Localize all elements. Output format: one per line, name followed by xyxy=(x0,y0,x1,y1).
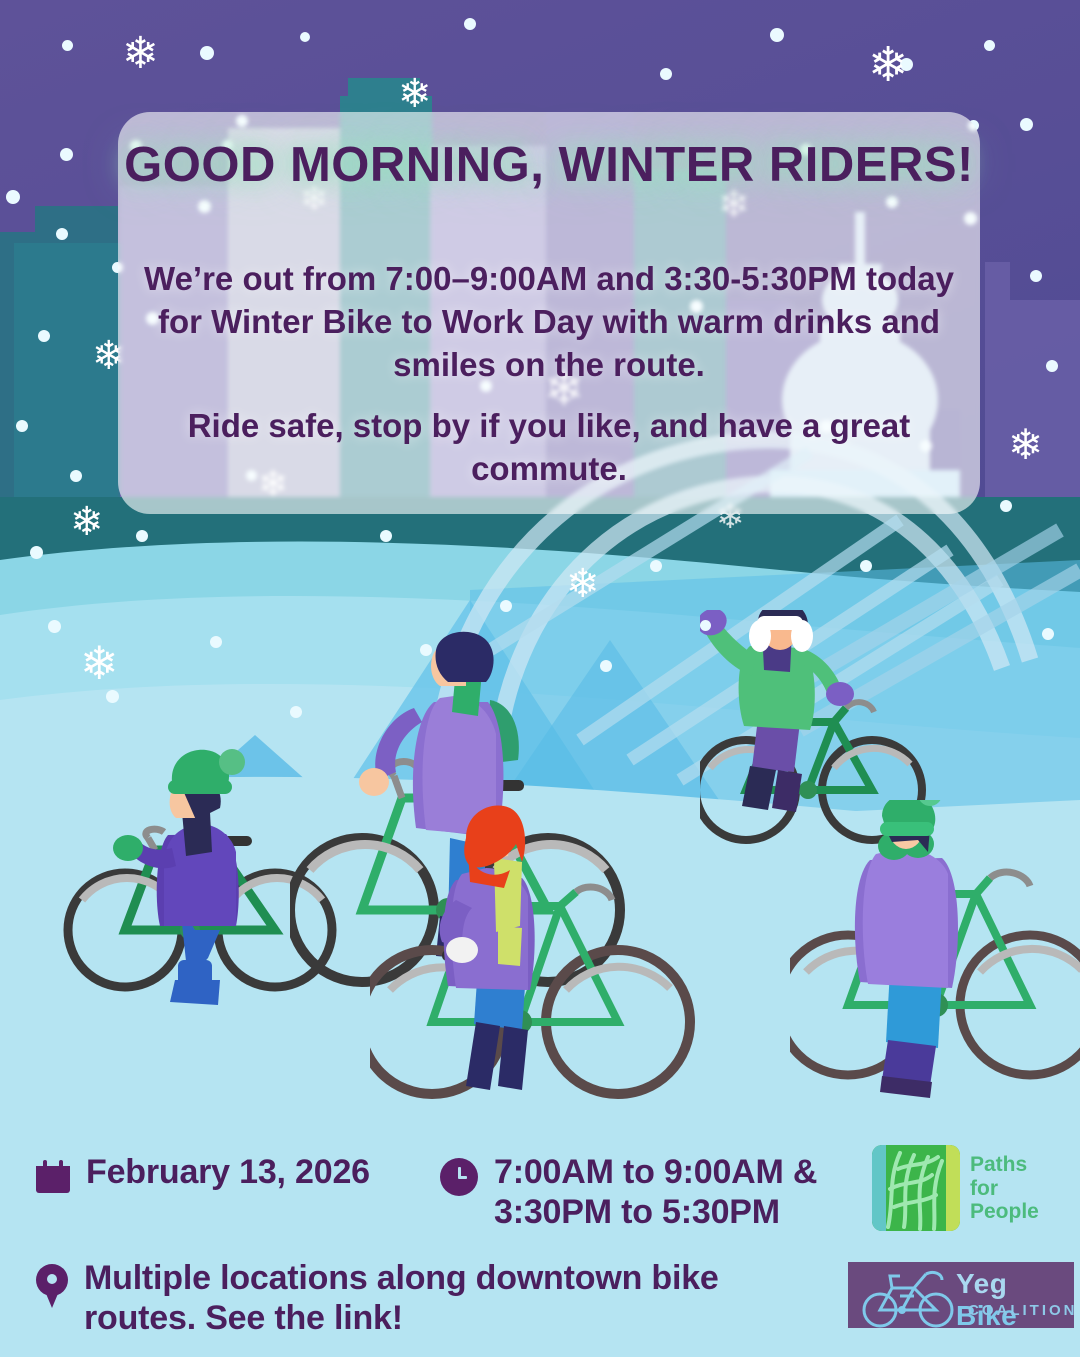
snowflake-icon: ❄ xyxy=(122,32,159,76)
paths-for-people-wordmark: Paths for People xyxy=(970,1153,1039,1224)
snow-dot xyxy=(30,546,43,559)
cyclist-green-hat-right xyxy=(790,800,1080,1120)
clock-icon xyxy=(440,1158,478,1196)
snow-dot xyxy=(210,636,222,648)
snow-dot xyxy=(16,420,28,432)
message-paragraph-1: We’re out from 7:00–9:00AM and 3:30-5:30… xyxy=(135,258,963,387)
snow-dot xyxy=(106,690,119,703)
poster-root: ❄ ❄ ❄ ❄ ❄ ❄ ❄ ❄ ❄ ❄ ❄ ❄ ❄ GOOD MORNING, … xyxy=(0,0,1080,1357)
snow-dot xyxy=(420,644,432,656)
snow-dot xyxy=(1030,270,1042,282)
message-paragraph-2: Ride safe, stop by if you like, and have… xyxy=(135,405,963,491)
cyclist-redhead-center xyxy=(370,800,710,1130)
snow-dot xyxy=(136,530,148,542)
bicycle-icon xyxy=(856,1266,960,1332)
snow-dot xyxy=(38,330,50,342)
snow-dot xyxy=(984,40,995,51)
detail-location: Multiple locations along downtown bike r… xyxy=(36,1258,719,1338)
snow-dot xyxy=(6,190,20,204)
pfp-line-1: Paths xyxy=(970,1153,1039,1177)
pfp-line-2: for xyxy=(970,1177,1039,1201)
snow-dot xyxy=(1020,118,1033,131)
snow-dot xyxy=(1046,360,1058,372)
pfp-line-3: People xyxy=(970,1200,1039,1224)
map-pin-icon xyxy=(36,1264,68,1308)
detail-time-line-1: 7:00AM to 9:00AM & xyxy=(494,1152,817,1192)
snow-dot xyxy=(62,40,73,51)
snow-dot xyxy=(56,228,68,240)
yeg-bike-wordmark: Yeg Bike xyxy=(956,1268,1074,1332)
snow-dot xyxy=(200,46,214,60)
snow-dot xyxy=(660,68,672,80)
snow-dot xyxy=(600,660,612,672)
snowflake-icon: ❄ xyxy=(868,42,908,90)
page-title: GOOD MORNING, WINTER RIDERS! xyxy=(118,138,980,193)
yeg-bike-subtitle: COALITION xyxy=(968,1302,1078,1319)
snow-dot xyxy=(500,600,512,612)
detail-date: February 13, 2026 xyxy=(36,1152,370,1193)
snow-dot xyxy=(860,560,872,572)
snow-dot xyxy=(300,32,310,42)
paths-for-people-logo[interactable]: Paths for People xyxy=(872,1145,1072,1237)
yeg-word: Yeg xyxy=(956,1268,1007,1299)
snow-dot xyxy=(770,28,784,42)
detail-time-line-2: 3:30PM to 5:30PM xyxy=(494,1192,817,1232)
detail-location-line-1: Multiple locations along downtown bike xyxy=(84,1258,719,1298)
snow-dot xyxy=(380,530,392,542)
snow-dot xyxy=(700,620,711,631)
snow-dot xyxy=(290,706,302,718)
snow-dot xyxy=(70,470,82,482)
snow-dot xyxy=(60,148,73,161)
yeg-bike-coalition-logo[interactable]: Yeg Bike COALITION xyxy=(848,1262,1074,1328)
snow-dot xyxy=(1000,500,1012,512)
snow-dot xyxy=(1042,628,1054,640)
snowflake-icon: ❄ xyxy=(566,564,600,604)
snowflake-icon: ❄ xyxy=(80,640,119,686)
paths-for-people-mark xyxy=(872,1145,960,1231)
snow-dot xyxy=(464,18,476,30)
snowflake-icon: ❄ xyxy=(70,502,104,542)
snow-dot xyxy=(48,620,61,633)
detail-time: 7:00AM to 9:00AM & 3:30PM to 5:30PM xyxy=(440,1152,817,1232)
snowflake-icon: ❄ xyxy=(398,74,432,114)
calendar-icon xyxy=(36,1160,70,1193)
detail-date-text: February 13, 2026 xyxy=(86,1152,370,1192)
snow-dot xyxy=(650,560,662,572)
snowflake-icon: ❄ xyxy=(1008,424,1043,466)
detail-location-line-2: routes. See the link! xyxy=(84,1298,719,1338)
